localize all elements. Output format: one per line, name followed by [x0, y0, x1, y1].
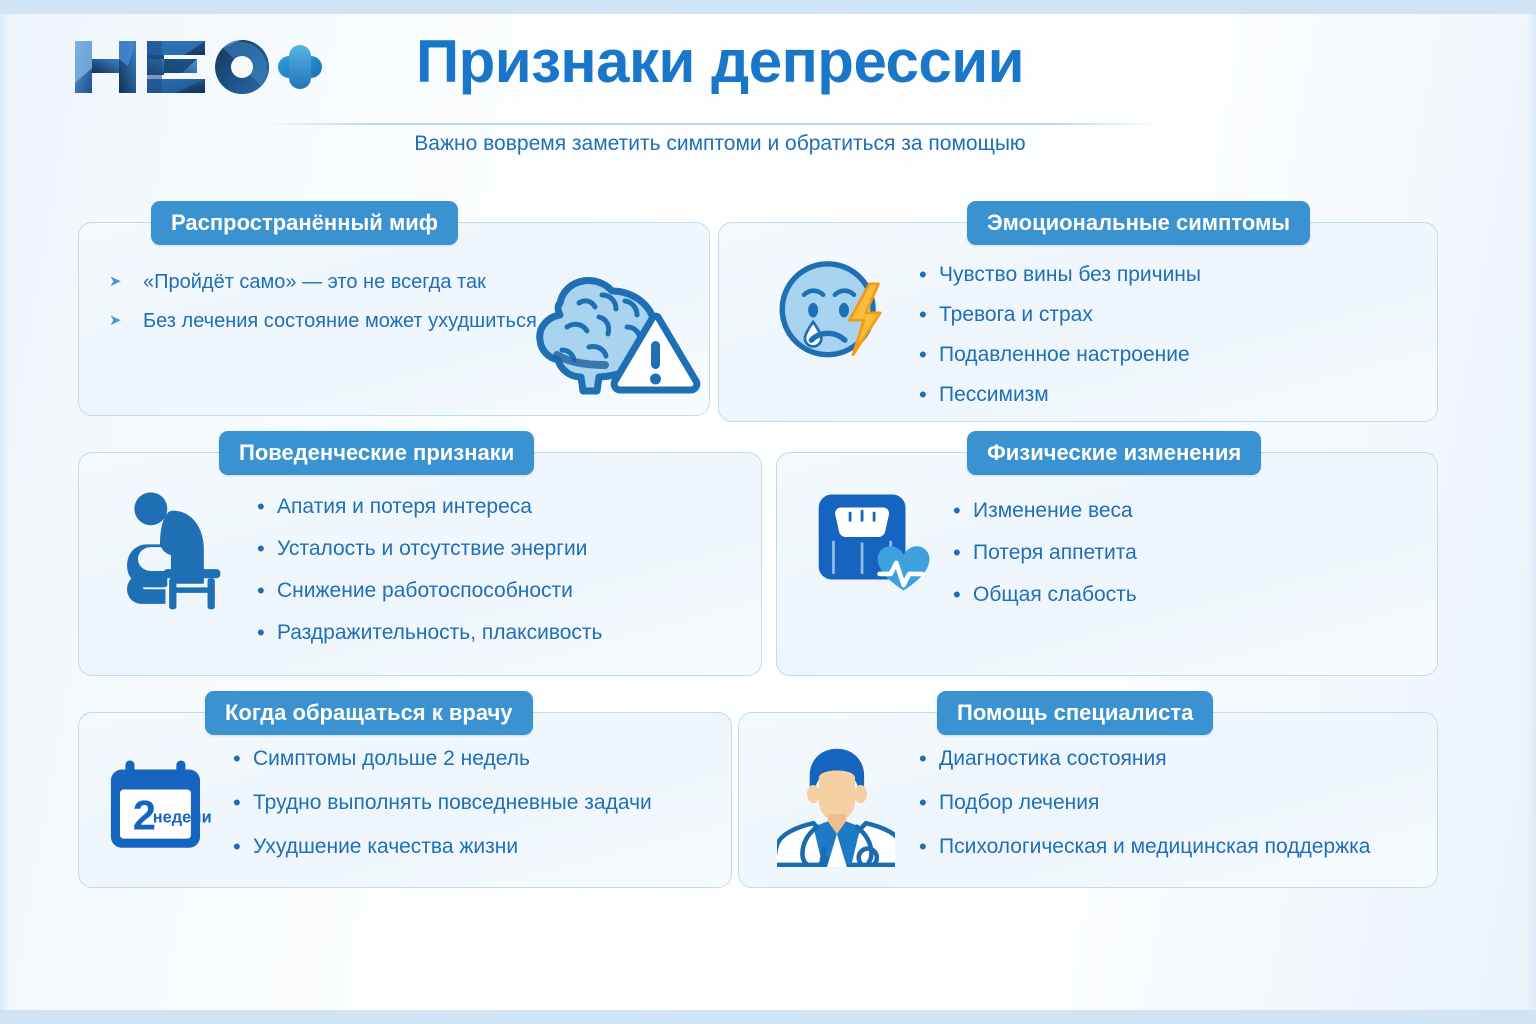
top-edge-band: [0, 0, 1536, 14]
list-item: Без лечения состояние может ухудшиться: [109, 310, 537, 333]
list-item: Симптомы дольше 2 недель: [231, 747, 652, 771]
title-divider: [262, 123, 1160, 125]
list-item: Психологическая и медицинская поддержка: [917, 835, 1370, 859]
bottom-edge-band: [0, 1010, 1536, 1024]
calendar-unit: недели: [153, 808, 212, 826]
card-common-myth: Распространённый миф «Пройдёт само» — эт…: [78, 222, 710, 416]
list-item: Пессимизм: [917, 383, 1201, 407]
card-badge-behavioral-signs: Поведенческие признаки: [219, 431, 534, 475]
card-badge-specialist-help: Помощь специалиста: [937, 691, 1213, 735]
list-item: Изменение веса: [951, 499, 1137, 523]
list-item: Раздражительность, плаксивость: [255, 621, 603, 645]
bullet-list-physical-changes: Изменение веса Потеря аппетита Общая сла…: [951, 499, 1137, 607]
scale-heart-icon: [815, 489, 935, 614]
bullet-list-emotional-symptoms: Чувство вины без причины Тревога и страх…: [917, 263, 1201, 407]
list-item: Ухудшение качества жизни: [231, 835, 652, 859]
card-badge-physical-changes: Физические изменения: [967, 431, 1261, 475]
list-item: Общая слабость: [951, 583, 1137, 607]
card-emotional-symptoms: Эмоциональные симптомы Чувство вины без …: [718, 222, 1438, 422]
bullet-list-when-to-see-doctor: Симптомы дольше 2 недель Трудно выполнят…: [231, 747, 652, 859]
list-item: Снижение работоспособности: [255, 579, 603, 603]
list-item: Чувство вины без причины: [917, 263, 1201, 287]
list-item: «Пройдёт само» — это не всегда так: [109, 271, 537, 294]
list-item: Подбор лечения: [917, 791, 1370, 815]
page-subtitle: Важно вовремя заметить симптоми и обрати…: [280, 132, 1160, 156]
card-specialist-help: Помощь специалиста: [738, 712, 1438, 888]
card-physical-changes: Физические изменения Изменение веса: [776, 452, 1438, 676]
card-badge-common-myth: Распространённый миф: [151, 201, 458, 245]
card-behavioral-signs: Поведенческие признаки: [78, 452, 762, 676]
list-item: Апатия и потеря интереса: [255, 495, 603, 519]
doctor-icon: [777, 743, 895, 872]
sad-face-lightning-icon: [775, 253, 893, 376]
card-badge-when-to-see-doctor: Когда обращаться к врачу: [205, 691, 533, 735]
bullet-list-behavioral-signs: Апатия и потеря интереса Усталость и отс…: [255, 495, 603, 645]
bullet-list-common-myth: «Пройдёт само» — это не всегда так Без л…: [109, 271, 537, 333]
brain-warning-icon: [527, 255, 707, 400]
list-item: Диагностика состояния: [917, 747, 1370, 771]
card-badge-emotional-symptoms: Эмоциональные симптомы: [967, 201, 1310, 245]
calendar-icon: 2 недели: [105, 755, 215, 860]
poster-header: Признаки депрессии Важно вовремя заметит…: [0, 0, 1536, 185]
list-item: Потеря аппетита: [951, 541, 1137, 565]
list-item: Усталость и отсутствие энергии: [255, 537, 603, 561]
bullet-list-specialist-help: Диагностика состояния Подбор лечения Пси…: [917, 747, 1370, 859]
sitting-person-icon: [121, 485, 241, 618]
list-item: Трудно выполнять повседневные задачи: [231, 791, 652, 815]
list-item: Подавленное настроение: [917, 343, 1201, 367]
right-edge-gradient: [1526, 14, 1536, 1010]
infographic-poster: Признаки депрессии Важно вовремя заметит…: [0, 0, 1536, 1024]
page-title: Признаки депрессии: [280, 32, 1160, 92]
list-item: Тревога и страх: [917, 303, 1201, 327]
card-when-to-see-doctor: Когда обращаться к врачу 2 недели Симпто…: [78, 712, 732, 888]
left-edge-gradient: [0, 14, 10, 1010]
